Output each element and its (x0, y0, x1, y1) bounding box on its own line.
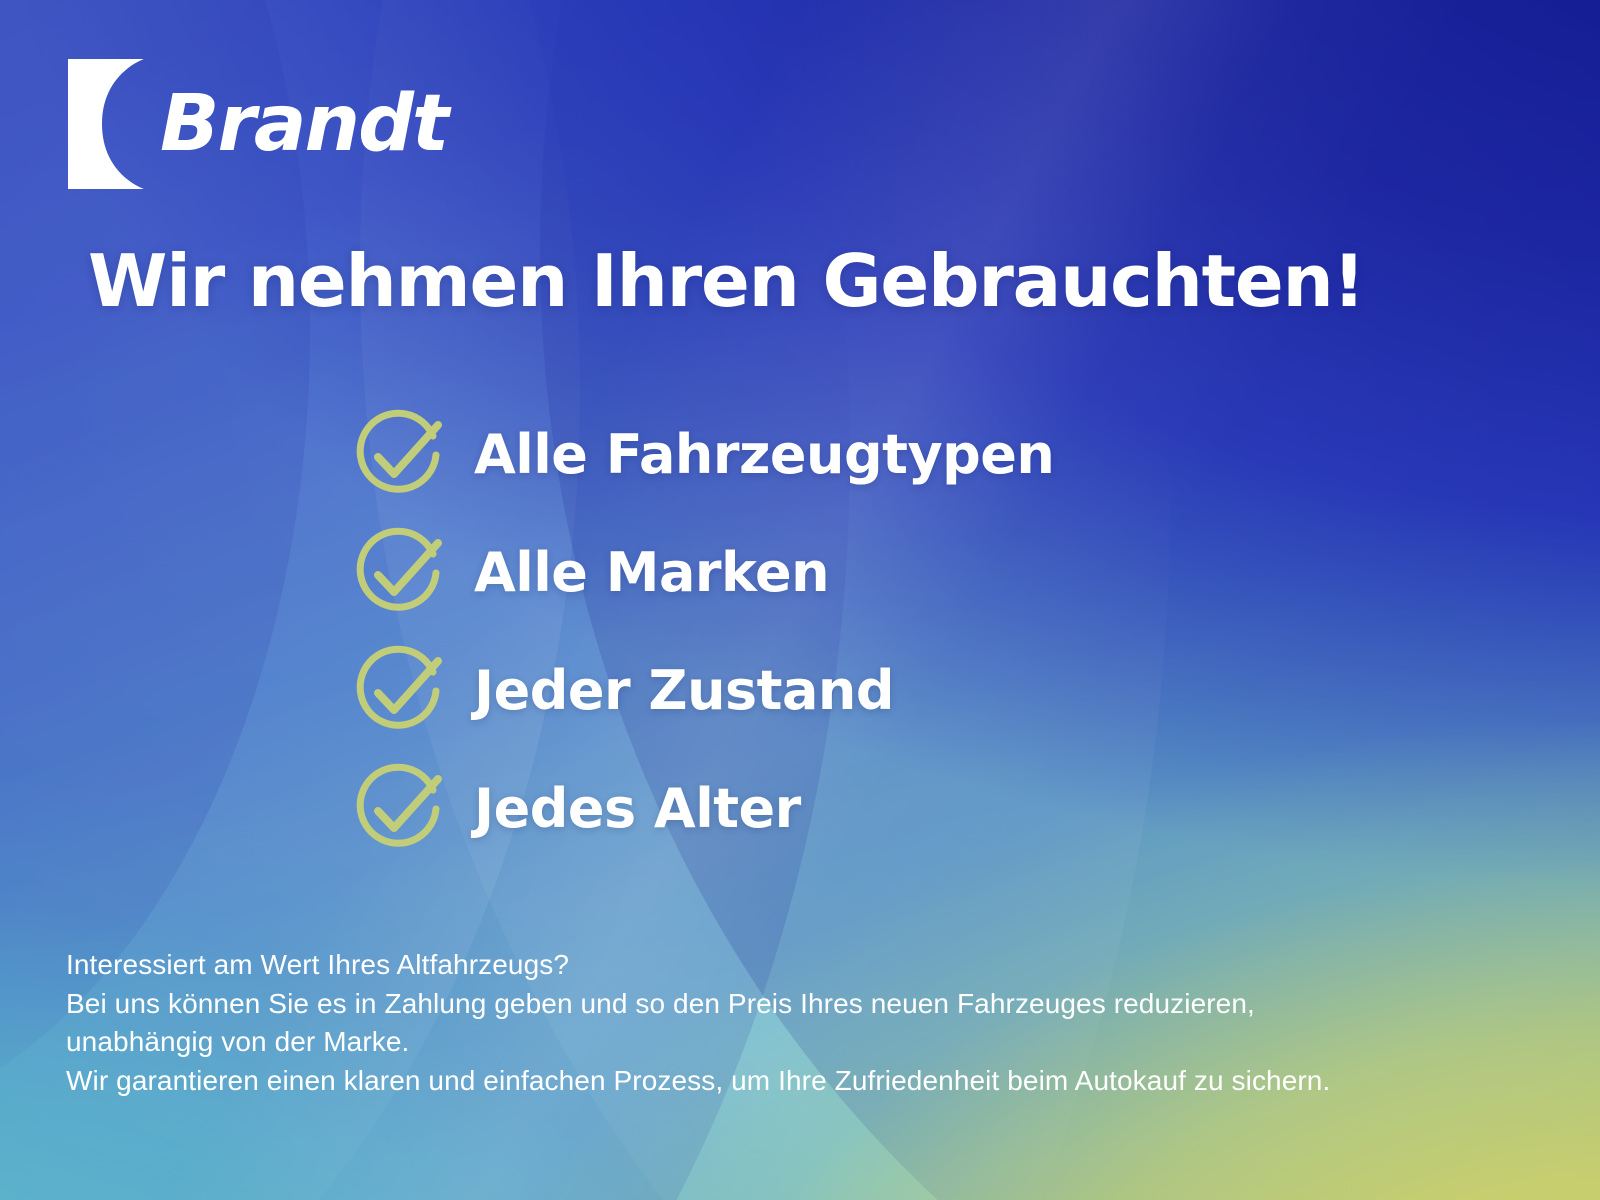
footer-line: Interessiert am Wert Ihres Altfahrzeugs? (66, 946, 1330, 985)
check-circle-icon (352, 763, 444, 855)
list-item-label: Alle Fahrzeugtypen (474, 428, 1054, 482)
check-circle-icon (352, 645, 444, 737)
list-item-label: Jeder Zustand (474, 664, 894, 718)
promo-poster: Brandt Wir nehmen Ihren Gebrauchten! All… (0, 0, 1600, 1200)
list-item-label: Alle Marken (474, 546, 829, 600)
list-item-label: Jedes Alter (474, 782, 801, 836)
page-title: Wir nehmen Ihren Gebrauchten! (88, 243, 1364, 321)
footer-line: unabhängig von der Marke. (66, 1023, 1330, 1062)
brandt-crescent-mark-icon (68, 59, 144, 189)
brand-name: Brandt (160, 85, 447, 163)
benefit-list: Alle Fahrzeugtypen Alle Marken (352, 396, 1054, 868)
footer-line: Bei uns können Sie es in Zahlung geben u… (66, 985, 1330, 1024)
check-circle-icon (352, 409, 444, 501)
list-item: Alle Fahrzeugtypen (352, 396, 1054, 514)
footer-line: Wir garantieren einen klaren und einfach… (66, 1062, 1330, 1101)
footer-description: Interessiert am Wert Ihres Altfahrzeugs?… (66, 946, 1330, 1101)
list-item: Jedes Alter (352, 750, 1054, 868)
list-item: Jeder Zustand (352, 632, 1054, 750)
list-item: Alle Marken (352, 514, 1054, 632)
poster-content: Brandt Wir nehmen Ihren Gebrauchten! All… (0, 0, 1600, 1200)
brand-logo: Brandt (68, 54, 447, 194)
check-circle-icon (352, 527, 444, 619)
